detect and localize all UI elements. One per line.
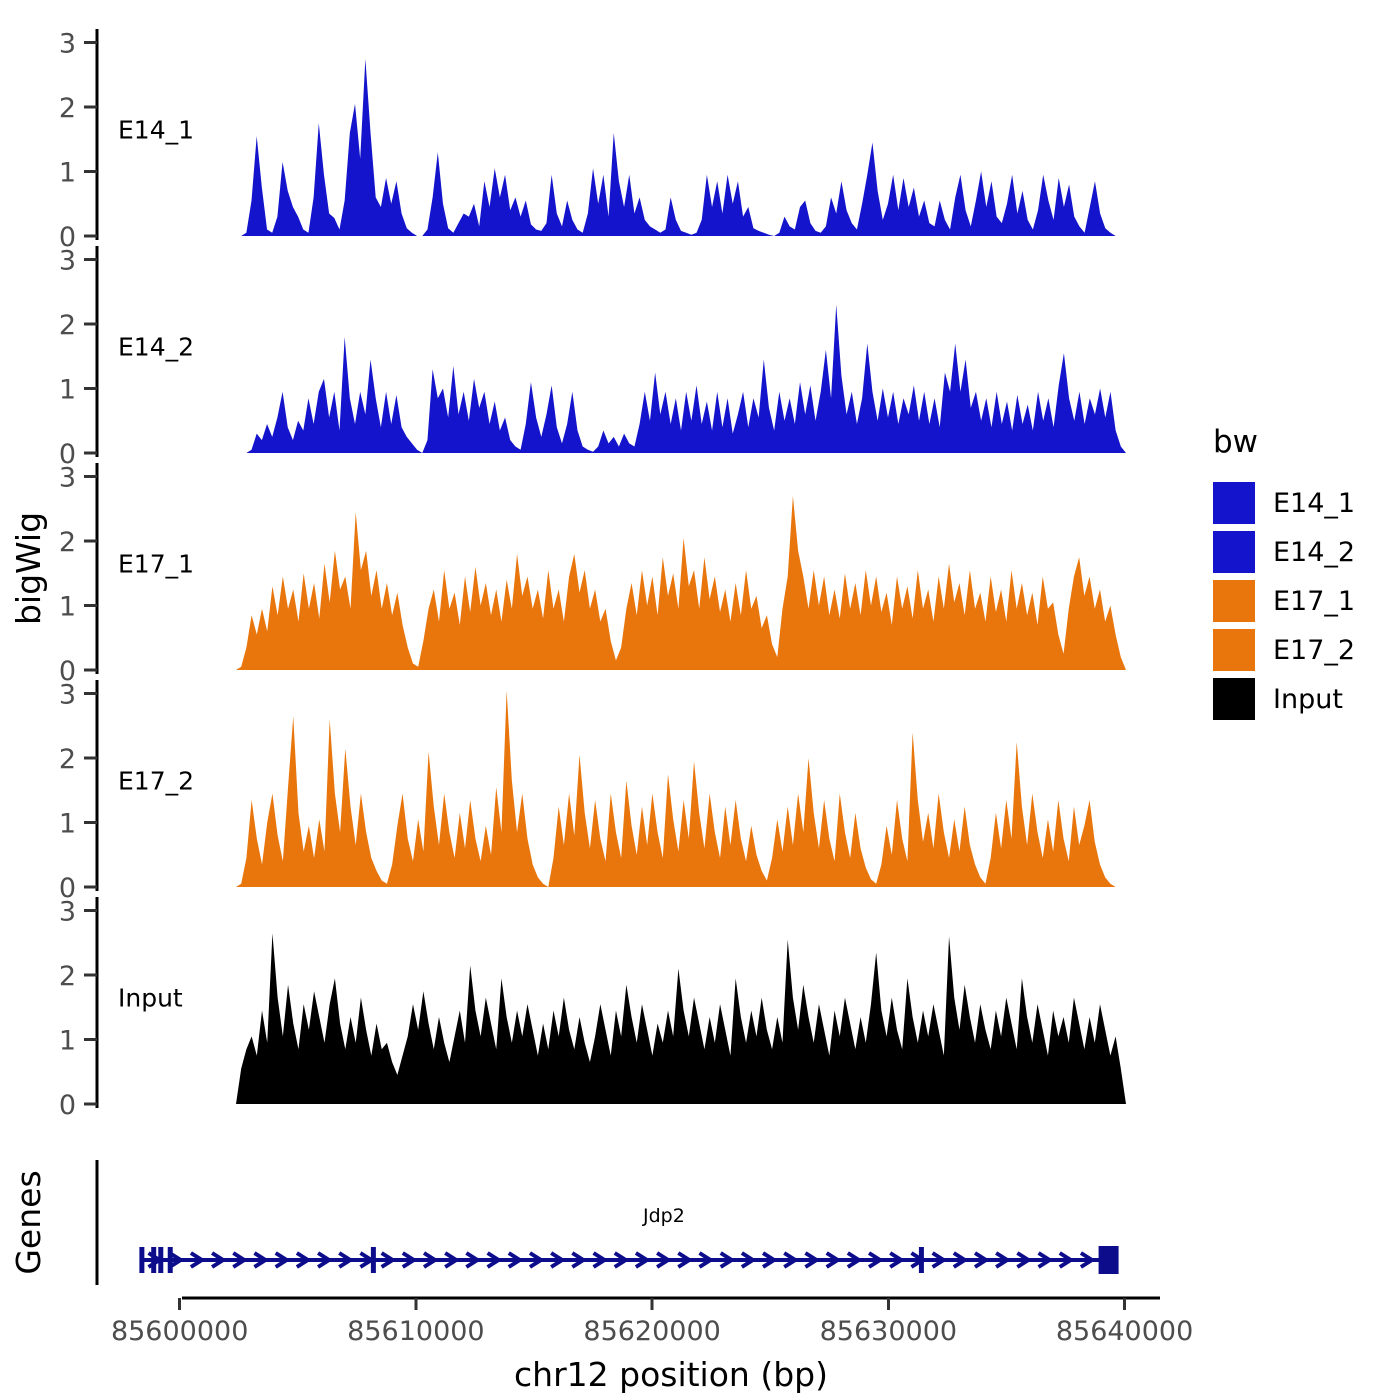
y-tick-label: 1 xyxy=(59,375,76,406)
legend-title: bw xyxy=(1213,424,1258,460)
x-axis-title: chr12 position (bp) xyxy=(514,1355,828,1394)
y-tick-label: 3 xyxy=(59,29,76,60)
genome-browser-figure: 0123E14_10123E14_20123E17_10123E17_20123… xyxy=(0,0,1400,1400)
genes-axis-title: Genes xyxy=(9,1170,48,1274)
track-panel-e17_2: 0123E17_2 xyxy=(59,680,1126,904)
legend-swatch-e17_2[interactable] xyxy=(1213,629,1255,671)
track-panel-e14_1: 0123E14_1 xyxy=(59,29,1126,253)
legend-swatch-e14_1[interactable] xyxy=(1213,482,1255,524)
y-tick-label: 2 xyxy=(59,744,76,775)
facet-label-e14_1: E14_1 xyxy=(118,116,194,145)
legend-label-e17_2: E17_2 xyxy=(1273,635,1355,666)
x-tick-label: 85630000 xyxy=(820,1316,957,1347)
facet-label-e17_2: E17_2 xyxy=(118,767,194,796)
y-axis-title: bigWig xyxy=(9,512,48,625)
x-tick-label: 85610000 xyxy=(347,1316,484,1347)
y-tick-label: 1 xyxy=(59,809,76,840)
gene-name-label: Jdp2 xyxy=(642,1205,685,1227)
legend-label-e14_2: E14_2 xyxy=(1273,537,1355,568)
y-tick-label: 3 xyxy=(59,680,76,711)
y-tick-label: 2 xyxy=(59,527,76,558)
y-tick-label: 1 xyxy=(59,592,76,623)
track-panel-e14_2: 0123E14_2 xyxy=(59,246,1126,470)
legend-swatch-e14_2[interactable] xyxy=(1213,531,1255,573)
coverage-area-e14_1 xyxy=(236,59,1126,236)
x-tick-label: 85640000 xyxy=(1056,1316,1193,1347)
coverage-area-e17_1 xyxy=(236,496,1126,670)
y-tick-label: 1 xyxy=(59,1026,76,1057)
legend-label-input: Input xyxy=(1273,684,1343,715)
legend-swatch-input[interactable] xyxy=(1213,678,1255,720)
coverage-area-input xyxy=(236,933,1126,1104)
y-tick-label: 3 xyxy=(59,897,76,928)
x-tick-label: 85600000 xyxy=(111,1316,248,1347)
facet-label-e17_1: E17_1 xyxy=(118,550,194,579)
x-tick-label: 85620000 xyxy=(583,1316,720,1347)
legend-label-e17_1: E17_1 xyxy=(1273,586,1355,617)
y-tick-label: 2 xyxy=(59,961,76,992)
legend-label-e14_1: E14_1 xyxy=(1273,488,1355,519)
y-tick-label: 2 xyxy=(59,310,76,341)
facet-label-e14_2: E14_2 xyxy=(118,333,194,362)
coverage-area-e17_2 xyxy=(236,690,1126,887)
y-tick-label: 0 xyxy=(59,1090,76,1121)
terminal-exon-block[interactable] xyxy=(1099,1246,1119,1274)
y-tick-label: 2 xyxy=(59,93,76,124)
coverage-area-e14_2 xyxy=(236,305,1126,453)
y-tick-label: 1 xyxy=(59,158,76,189)
legend-swatch-e17_1[interactable] xyxy=(1213,580,1255,622)
track-panel-input: 0123Input xyxy=(59,897,1126,1121)
y-tick-label: 3 xyxy=(59,463,76,494)
facet-label-input: Input xyxy=(118,984,183,1013)
track-panel-e17_1: 0123E17_1 xyxy=(59,463,1126,687)
y-tick-label: 3 xyxy=(59,246,76,277)
